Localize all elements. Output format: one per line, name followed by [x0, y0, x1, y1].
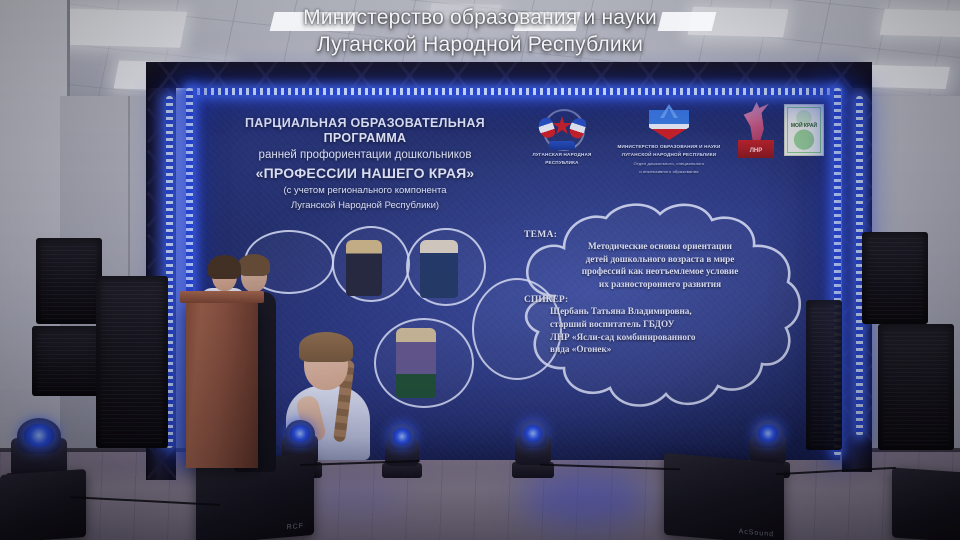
pa-speaker-left-mid [32, 326, 104, 396]
speaker-grill [867, 237, 923, 319]
pa-speaker-right-sub [878, 324, 954, 450]
speaker-grill [811, 305, 837, 445]
overlay-line-1: Министерство образования и науки [0, 4, 960, 31]
stage-floor [0, 452, 960, 540]
floor-light-spill [520, 470, 650, 526]
cloud-text-callout: ТЕМА: Методические основы ориентации дет… [498, 200, 818, 422]
stage-monitor-wedge-far-right [892, 467, 960, 540]
light-lens [393, 428, 411, 444]
truss-lattice [146, 62, 872, 88]
child-photo-chef [420, 240, 458, 298]
light-lens [524, 425, 542, 442]
shield-shape [649, 110, 689, 140]
child-photo-businesswoman [346, 240, 382, 296]
logo-moi-kray: МОЙ КРАЙ [782, 104, 826, 156]
logo-caption: РЕСПУБЛИКА [520, 160, 604, 166]
speaker-line4: вида «Огонек» [524, 344, 796, 356]
ministry-shield-icon [649, 104, 689, 142]
program-name: «ПРОФЕССИИ НАШЕГО КРАЯ» [206, 165, 524, 182]
stage-monitor-wedge-far-left [0, 469, 86, 540]
pa-speaker-right-top [862, 232, 928, 324]
logo-caption: ЛНР [738, 148, 774, 154]
logo-row: ЛУГАНСКАЯ НАРОДНАЯ РЕСПУБЛИКА МИНИСТЕРСТ… [520, 102, 830, 182]
theme-label: ТЕМА: [524, 230, 796, 240]
overlay-line-2: Луганской Народной Республики [0, 31, 960, 58]
floor-light-spill [300, 476, 410, 520]
theme-line1: Методические основы ориентации [524, 241, 796, 253]
video-title-overlay: Министерство образования и науки Луганск… [0, 4, 960, 58]
video-frame: ПАРЦИАЛЬНАЯ ОБРАЗОВАТЕЛЬНАЯ ПРОГРАММА ра… [0, 0, 960, 540]
child-photo-artist [396, 328, 436, 398]
logo-caption: МОЙ КРАЙ [785, 123, 823, 129]
program-title-line1: ПАРЦИАЛЬНАЯ ОБРАЗОВАТЕЛЬНАЯ [206, 116, 524, 131]
presenter-hair [208, 255, 241, 279]
speaker-grill [41, 243, 97, 319]
podium-top [180, 291, 264, 303]
moving-head-light-4 [512, 420, 554, 478]
logo-caption: ЛУГАНСКОЙ НАРОДНОЙ РЕСПУБЛИКИ [606, 152, 732, 158]
speaker-line2: старший воспитатель ГБДОУ [524, 319, 796, 331]
emblem-base-ribbon [549, 141, 575, 150]
logo-caption: и инклюзивного образования [606, 169, 732, 175]
truss-top-beam [146, 62, 872, 88]
speaker-line1: Щербань Татьяна Владимировна, [524, 306, 796, 318]
pa-speaker-right-side [806, 300, 842, 450]
speaker-grill [883, 329, 949, 445]
speaker-grill [101, 281, 163, 443]
speaker-grill [37, 331, 99, 391]
pa-speaker-left-top [36, 238, 102, 324]
cloud-text: ТЕМА: Методические основы ориентации дет… [524, 230, 796, 356]
program-title-block: ПАРЦИАЛЬНАЯ ОБРАЗОВАТЕЛЬНАЯ ПРОГРАММА ра… [206, 116, 524, 212]
wedge-brand-label: RCF [287, 523, 304, 532]
theme-line2: детей дошкольного возраста в мире [524, 254, 796, 266]
lnr-emblem-icon [540, 106, 584, 150]
led-strip-top [190, 88, 838, 95]
logo-lnr-coat-of-arms: ЛУГАНСКАЯ НАРОДНАЯ РЕСПУБЛИКА [520, 106, 604, 166]
program-note-line2: Луганской Народной Республики) [206, 200, 524, 212]
poster-ornament [787, 107, 821, 153]
program-note-line1: (с учетом регионального компонента [206, 185, 524, 197]
light-lens [24, 424, 53, 447]
monument-figure [742, 102, 770, 144]
emblem-star-icon [552, 116, 572, 136]
moi-kray-poster-icon: МОЙ КРАЙ [784, 104, 824, 156]
logo-ministry-of-education: МИНИСТЕРСТВО ОБРАЗОВАНИЯ И НАУКИ ЛУГАНСК… [606, 104, 732, 174]
floor-planks [0, 452, 960, 540]
logo-motherland-calls: ЛНР [734, 102, 778, 158]
speaker-label: СПИКЕР: [524, 295, 796, 305]
girl-hair [299, 332, 353, 362]
pa-speaker-left-sub [96, 276, 168, 448]
program-subtitle: ранней профориентации дошкольников [206, 148, 524, 163]
speaker-line3: ЛНР «Ясли-сад комбинированного [524, 332, 796, 344]
theme-line3: профессий как неотъемлемое условие [524, 266, 796, 278]
ceiling-light-panel [866, 65, 950, 89]
logo-caption: Отдел дошкольного, специального [606, 161, 732, 167]
event-backdrop-banner: ПАРЦИАЛЬНАЯ ОБРАЗОВАТЕЛЬНАЯ ПРОГРАММА ра… [190, 92, 840, 460]
logo-caption: МИНИСТЕРСТВО ОБРАЗОВАНИЯ И НАУКИ [606, 144, 732, 150]
light-lens [758, 425, 777, 442]
moving-head-light-3 [382, 424, 422, 478]
monument-base: ЛНР [738, 140, 774, 158]
program-title-line2: ПРОГРАММА [206, 131, 524, 146]
theme-line4: их разностороннего развития [524, 279, 796, 291]
wedge-brand-label: AcSound [739, 528, 774, 538]
motherland-monument-icon: ЛНР [736, 102, 776, 158]
stage-monitor-wedge-right: AcSound [664, 453, 784, 540]
light-lens [290, 425, 309, 442]
speaker-podium [186, 300, 258, 468]
logo-caption: ЛУГАНСКАЯ НАРОДНАЯ [520, 152, 604, 158]
